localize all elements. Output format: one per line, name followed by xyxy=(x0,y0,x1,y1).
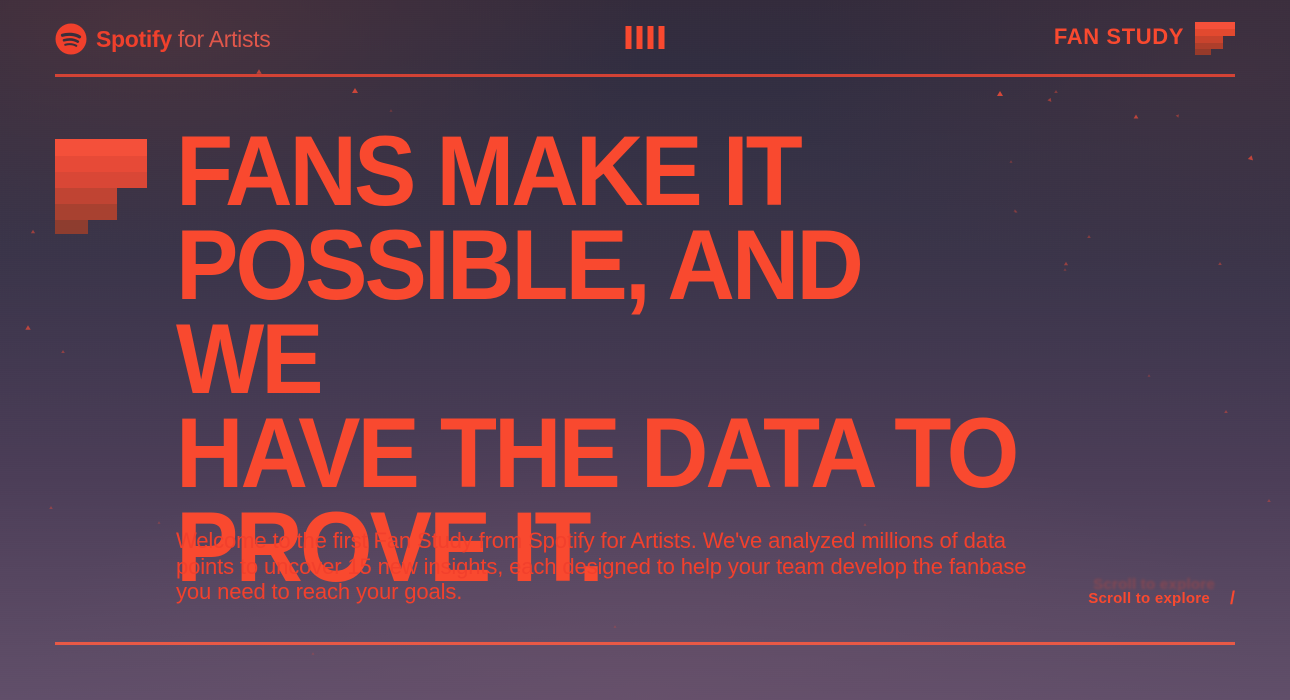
band-4 xyxy=(55,188,117,204)
band-3 xyxy=(55,172,147,188)
fan-study-logo[interactable]: FAN STUDY xyxy=(1054,22,1235,58)
four-bars-icon xyxy=(626,26,665,49)
brand-wordmark: Spotify for Artists xyxy=(96,28,271,51)
bar-2 xyxy=(637,26,643,49)
band-5 xyxy=(55,204,117,220)
scroll-cue-slash: / xyxy=(1230,588,1235,609)
bar-4 xyxy=(659,26,665,49)
band-3 xyxy=(1195,36,1223,43)
band-6 xyxy=(55,220,88,234)
brand-bold-word: Spotify xyxy=(96,26,172,52)
band-5 xyxy=(1195,49,1211,55)
fan-study-label: FAN STUDY xyxy=(1054,22,1184,52)
band-2 xyxy=(55,156,147,172)
scroll-cue-label: Scroll to explore xyxy=(1088,590,1210,607)
stepped-flag-icon xyxy=(1195,22,1235,55)
hero-description: Welcome to the first Fan Study from Spot… xyxy=(176,528,1048,605)
scroll-to-explore-cue[interactable]: Scroll to explore / xyxy=(1088,588,1235,609)
top-bar: Spotify for Artists FAN STUDY xyxy=(0,0,1290,75)
bar-1 xyxy=(626,26,632,49)
brand-light-word: for Artists xyxy=(172,26,271,52)
band-2 xyxy=(1195,29,1235,36)
band-1 xyxy=(55,139,147,156)
bar-3 xyxy=(648,26,654,49)
spotify-for-artists-logo[interactable]: Spotify for Artists xyxy=(55,22,271,56)
hero-page: Spotify for Artists FAN STUDY FANS MAKE … xyxy=(0,0,1290,700)
band-1 xyxy=(1195,22,1235,29)
stepped-bar-chart-icon xyxy=(55,139,147,234)
page-title: FANS MAKE IT POSSIBLE, AND WE HAVE THE D… xyxy=(176,124,1027,594)
footer-divider xyxy=(55,642,1235,645)
spotify-logo-icon xyxy=(55,23,87,55)
